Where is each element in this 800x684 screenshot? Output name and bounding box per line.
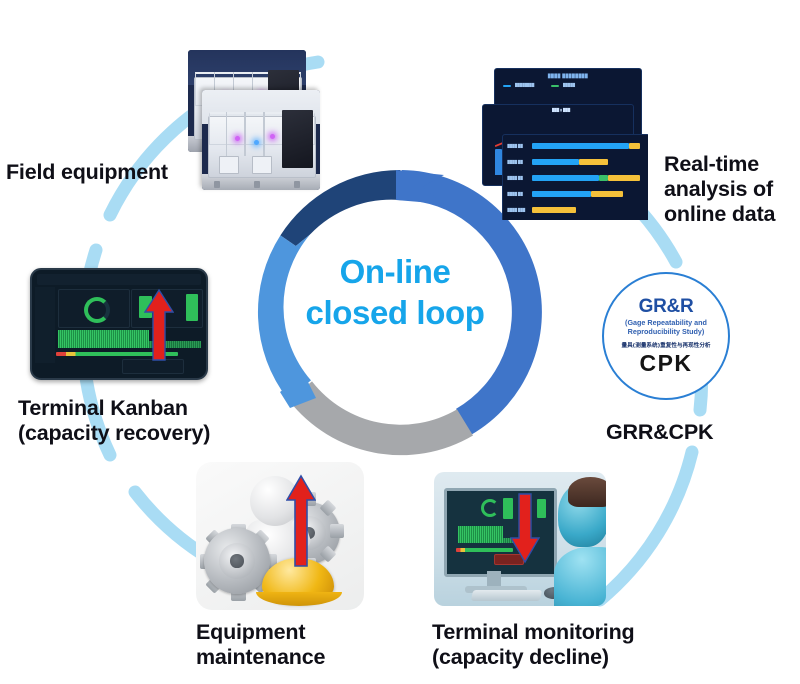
keyboard bbox=[471, 590, 542, 601]
red-up-arrow-icon bbox=[144, 288, 174, 362]
label-equipment-maintenance: Equipment maintenance bbox=[196, 620, 325, 670]
person-shoulder bbox=[554, 547, 606, 606]
grr-cpk-badge[interactable]: GR&R (Gage Repeatability and Reproducibi… bbox=[602, 272, 730, 400]
red-down-arrow-icon bbox=[510, 492, 540, 564]
grr-chinese-text: 量具(测量系统)重复性与再现性分析 bbox=[621, 341, 710, 349]
ring-segment-maintenance bbox=[289, 381, 473, 455]
label-terminal-kanban: Terminal Kanban (capacity recovery) bbox=[18, 396, 210, 446]
gear-left bbox=[204, 528, 270, 594]
label-grr-cpk: GRR&CPK bbox=[606, 420, 713, 445]
dashboard-screen-front: ████ ██ ████ ██ ████ ██ ████ ██ ████ ███ bbox=[502, 134, 648, 220]
ring-arrowhead-right bbox=[396, 170, 444, 204]
monitor-stand bbox=[487, 571, 501, 587]
grr-title: GR&R bbox=[639, 297, 694, 316]
label-realtime-analysis: Real-time analysis of online data bbox=[664, 152, 775, 227]
red-up-arrow-icon bbox=[286, 474, 316, 568]
kanban-tablet[interactable] bbox=[30, 268, 208, 380]
person-hair bbox=[568, 477, 606, 506]
field-equipment-photo[interactable] bbox=[180, 46, 322, 194]
label-field-equipment: Field equipment bbox=[6, 160, 168, 185]
kanban-toolbar bbox=[37, 274, 201, 285]
label-terminal-monitoring: Terminal monitoring (capacity decline) bbox=[432, 620, 634, 670]
grr-subtitle: (Gage Repeatability and Reproducibility … bbox=[625, 319, 707, 337]
ring-joint-bottom-left bbox=[280, 374, 316, 408]
monitor-screen bbox=[444, 488, 557, 577]
dashboard-screens[interactable]: ████ ████████ ████████ █████ ███ ▮ ███ █… bbox=[476, 68, 648, 220]
center-label: On-line closed loop bbox=[287, 252, 503, 334]
kanban-waveform-low bbox=[58, 341, 201, 347]
ring-joint-top bbox=[398, 170, 440, 202]
kanban-gauge-panel bbox=[58, 289, 130, 328]
cpk-title: CPK bbox=[639, 352, 692, 375]
kanban-sidebar bbox=[35, 287, 54, 363]
diagram-canvas: On-line closed loop bbox=[0, 0, 800, 684]
hard-hat-brim bbox=[256, 592, 342, 606]
maintenance-illustration[interactable] bbox=[196, 462, 364, 610]
monitoring-photo[interactable] bbox=[434, 472, 606, 606]
machine-photo-front bbox=[202, 90, 320, 190]
